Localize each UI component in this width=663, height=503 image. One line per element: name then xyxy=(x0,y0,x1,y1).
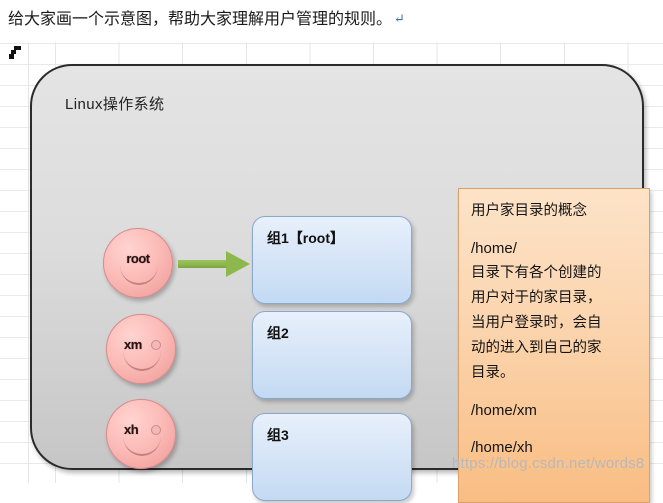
user-label-root: root xyxy=(104,251,172,266)
os-title-label: Linux操作系统 xyxy=(65,93,164,114)
group-box-group1[interactable]: 组1【root】 xyxy=(252,216,412,304)
note-title: 用户家目录的概念 xyxy=(471,199,637,224)
note-spacer-3 xyxy=(471,423,637,435)
user-circle-root[interactable]: root xyxy=(103,228,173,298)
arrow-head xyxy=(226,251,250,277)
object-anchor-icon xyxy=(9,46,21,60)
user-label-xh: xh xyxy=(107,422,175,437)
eye-icon xyxy=(151,425,161,435)
group-box-group2[interactable]: 组2 xyxy=(252,311,412,399)
arrow-root-to-group1-icon[interactable] xyxy=(178,251,250,277)
note-line-0: /home/ xyxy=(471,236,637,261)
pilcrow-mark: ↵ xyxy=(394,11,405,26)
user-circle-xm[interactable]: xm xyxy=(106,314,176,384)
watermark-text: https://blog.csdn.net/words8 xyxy=(452,455,644,472)
note-line-4: 动的进入到自己的家 xyxy=(471,336,637,361)
eye-icon xyxy=(151,340,161,350)
note-line-2: 用户对于的家目录， xyxy=(471,286,637,311)
note-path-xm: /home/xm xyxy=(471,398,637,423)
smile-icon xyxy=(123,436,161,456)
linux-os-container[interactable]: Linux操作系统 root xm xh 组1【root】 组2 组3 用户家目… xyxy=(30,64,644,470)
note-spacer-2 xyxy=(471,386,637,398)
user-label-xm: xm xyxy=(107,337,175,352)
caption-text: 给大家画一个示意图，帮助大家理解用户管理的规则。 xyxy=(8,11,392,28)
group-label-group1: 组1【root】 xyxy=(267,228,344,248)
note-line-5: 目录。 xyxy=(471,361,637,386)
group-label-group2: 组2 xyxy=(267,323,289,343)
note-line-1: 目录下有各个创建的 xyxy=(471,261,637,286)
user-circle-xh[interactable]: xh xyxy=(106,399,176,469)
smile-icon xyxy=(120,265,158,285)
group-box-group3[interactable]: 组3 xyxy=(252,413,412,501)
note-spacer xyxy=(471,224,637,236)
group-label-group3: 组3 xyxy=(267,425,289,445)
arrow-shaft xyxy=(178,260,230,268)
note-line-3: 当用户登录时，会自 xyxy=(471,311,637,336)
smile-icon xyxy=(123,351,161,371)
document-caption: 给大家画一个示意图，帮助大家理解用户管理的规则。↵ xyxy=(8,8,648,38)
